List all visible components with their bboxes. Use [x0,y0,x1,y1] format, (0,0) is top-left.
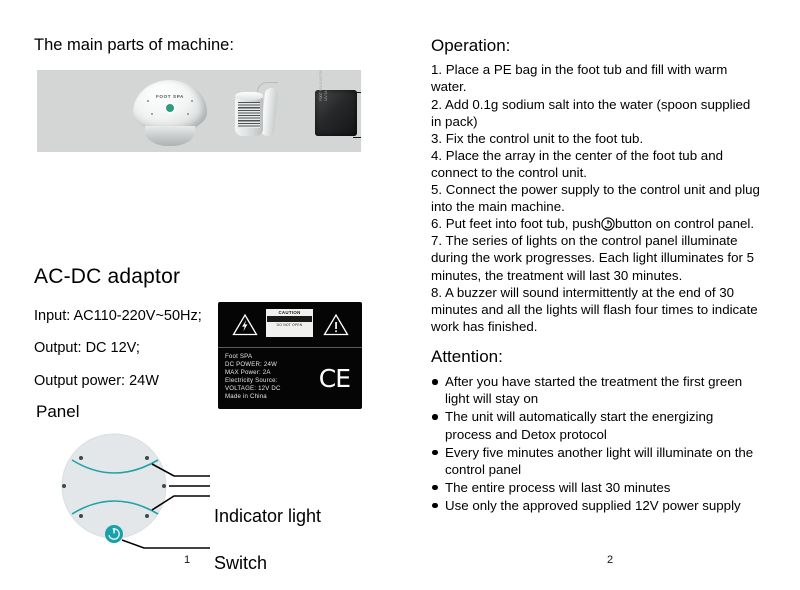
dome-power-button-icon [166,104,174,112]
panel-power-switch [105,525,123,543]
panel-indicator-dot [79,514,83,518]
operation-step-6-text-before: 6. Put feet into foot tub, push [431,216,601,231]
panel-title: Panel [36,402,79,422]
array-fins [238,102,260,128]
dome-base [145,126,195,146]
panel-indicator-dot [162,484,166,488]
attention-item: Use only the approved supplied 12V power… [431,497,761,514]
adaptor-title: AC-DC adaptor [34,264,390,289]
label-spec-line: Foot SPA [225,353,281,361]
panel-indicator-dot [79,456,83,460]
parts-heading: The main parts of machine: [34,36,390,56]
attention-items-list: After you have started the treatment the… [431,373,761,514]
operation-step: 3. Fix the control unit to the foot tub. [431,130,761,147]
left-column: The main parts of machine: FOOT SPA [34,36,390,556]
panel-face-circle [62,434,166,538]
label-spec-row: Foot SPA DC POWER: 24W MAX Power: 2A Ele… [218,348,362,409]
array-cap [235,92,263,100]
callout-label-indicator-light: Indicator light [214,507,321,525]
adaptor-brick: FOOT SPA ADAPTOR 12V 2A [315,90,357,136]
power-button-icon [601,217,615,231]
adaptor-specs: Input: AC110-220V~50Hz; Output: DC 12V; … [34,308,224,405]
parts-photo-strip: FOOT SPA FOOT SPA ADAPTOR 12V 2A [37,70,361,152]
attention-item: After you have started the treatment the… [431,373,761,407]
operation-step-6: 6. Put feet into foot tub, push button o… [431,215,761,232]
electrode-array-photo [233,84,291,146]
label-spec-line: Electricity Source: [225,377,281,385]
panel-diagram [34,424,390,564]
attention-item: The unit will automatically start the en… [431,408,761,442]
label-spec-line: Made in China [225,393,281,401]
operation-steps-list: 1. Place a PE bag in the foot tub and fi… [431,61,761,335]
adaptor-spec-power: Output power: 24W [34,373,224,390]
panel-section: Panel [34,402,390,562]
operation-step: 4. Place the array in the center of the … [431,147,761,181]
panel-indicator-dot [145,514,149,518]
attention-item: Every five minutes another light will il… [431,444,761,478]
page-number-left: 1 [184,554,190,566]
caution-subtext: DO NOT OPEN [266,322,313,328]
caution-title: CAUTION [266,309,313,316]
caution-box: CAUTION DO NOT OPEN [266,309,313,337]
label-spec-line: DC POWER: 24W [225,361,281,369]
electric-shock-hazard-icon [232,313,258,336]
operation-heading: Operation: [431,36,761,56]
dome-brand-text: FOOT SPA [149,94,191,99]
label-warning-row: CAUTION DO NOT OPEN [218,302,362,348]
operation-step: 8. A buzzer will sound intermittently at… [431,284,761,335]
dome-indicator-dot [187,113,189,115]
general-warning-icon [323,313,349,336]
panel-indicator-dot [62,484,66,488]
ce-mark-icon: CE [319,366,350,391]
page-number-right: 2 [607,554,613,566]
operation-step-6-text-after: button on control panel. [615,216,754,231]
operation-step: 2. Add 0.1g sodium salt into the water (… [431,96,761,130]
label-spec-line: MAX Power: 2A [225,369,281,377]
attention-heading: Attention: [431,347,761,367]
callout-label-switch: Switch [214,554,267,572]
power-adaptor-photo: FOOT SPA ADAPTOR 12V 2A [315,84,361,146]
operation-step: 5. Connect the power supply to the contr… [431,181,761,215]
dome-indicator-dot [151,113,153,115]
panel-indicator-dot [145,456,149,460]
adaptor-spec-input: Input: AC110-220V~50Hz; [34,308,224,325]
adaptor-spec-output: Output: DC 12V; [34,340,224,357]
manual-page: The main parts of machine: FOOT SPA [0,0,800,590]
adaptor-brick-text: FOOT SPA ADAPTOR 12V 2A [319,70,328,101]
right-column: Operation: 1. Place a PE bag in the foot… [431,36,761,556]
label-spec-line: VOLTAGE: 12V DC [225,385,281,393]
panel-power-icon-stem [113,528,115,533]
label-spec-lines: Foot SPA DC POWER: 24W MAX Power: 2A Ele… [225,353,281,402]
dome-indicator-dot [147,100,149,102]
main-control-unit-photo: FOOT SPA [133,80,207,146]
operation-step: 7. The series of lights on the control p… [431,232,761,283]
dome-indicator-dot [191,100,193,102]
attention-item: The entire process will last 30 minutes [431,479,761,496]
operation-step: 1. Place a PE bag in the foot tub and fi… [431,61,761,95]
leader-line-switch [122,540,210,548]
adaptor-rating-label: CAUTION DO NOT OPEN Foot SP [218,302,362,409]
adaptor-section: AC-DC adaptor Input: AC110-220V~50Hz; Ou… [34,264,390,394]
